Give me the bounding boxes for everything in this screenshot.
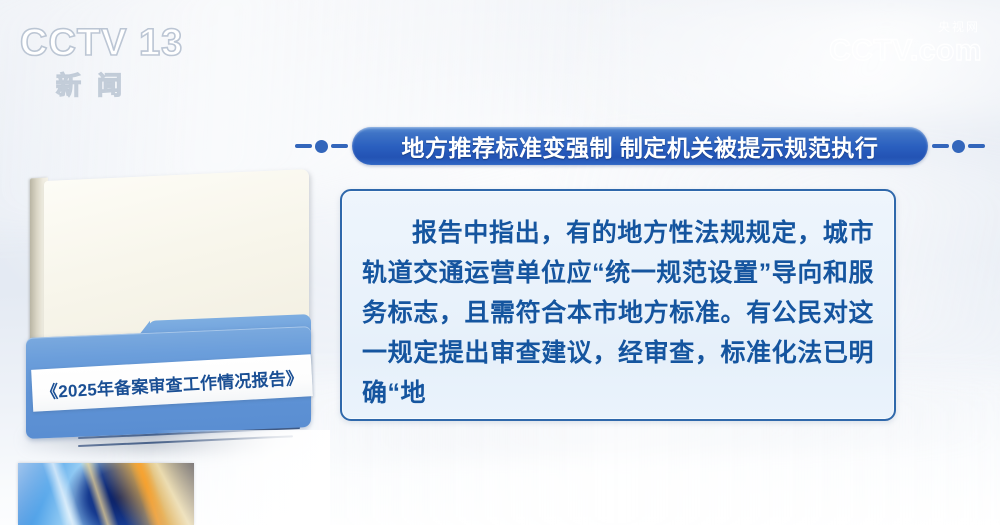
decoration-dot-icon: [952, 140, 965, 153]
headline-title: 地方推荐标准变强制 制定机关被提示规范执行: [388, 129, 893, 163]
body-text-panel: 报告中指出，有的地方性法规规定，城市轨道交通运营单位应“统一规范设置”导向和服务…: [340, 189, 896, 421]
headline-right-decoration: [932, 140, 985, 153]
thumbnail-light-sweep: [18, 463, 194, 525]
cctv13-logo-text: CCTV 13: [20, 22, 220, 64]
decoration-dash-icon: [295, 144, 312, 148]
decoration-dash-icon: [968, 144, 985, 148]
news-graphic-thumbnail: [18, 463, 194, 525]
headline-banner: 地方推荐标准变强制 制定机关被提示规范执行: [295, 127, 985, 165]
cctv-com-watermark: 央视网 CCTV.com: [792, 20, 982, 78]
cctv13-channel-logo: CCTV 13 新闻: [20, 22, 220, 94]
cctv-com-logo-text: CCTV.com: [792, 34, 982, 68]
body-paragraph: 报告中指出，有的地方性法规规定，城市轨道交通运营单位应“统一规范设置”导向和服务…: [362, 213, 874, 413]
report-folder-graphic: 《2025年备案审查工作情况报告》: [18, 170, 318, 450]
broadcast-screen: CCTV 13 新闻 央视网 CCTV.com 地方推荐标准变强制 制定机关被提…: [0, 0, 1000, 525]
decoration-dash-icon: [331, 144, 348, 148]
decoration-dot-icon: [315, 140, 328, 153]
headline-pill: 地方推荐标准变强制 制定机关被提示规范执行: [352, 127, 928, 165]
report-title-text: 《2025年备案审查工作情况报告》: [40, 363, 303, 403]
cctv-com-chinese-label: 央视网: [792, 20, 980, 34]
cctv13-logo-subtitle: 新闻: [56, 66, 220, 102]
decoration-dash-icon: [932, 144, 949, 148]
headline-left-decoration: [295, 140, 348, 153]
